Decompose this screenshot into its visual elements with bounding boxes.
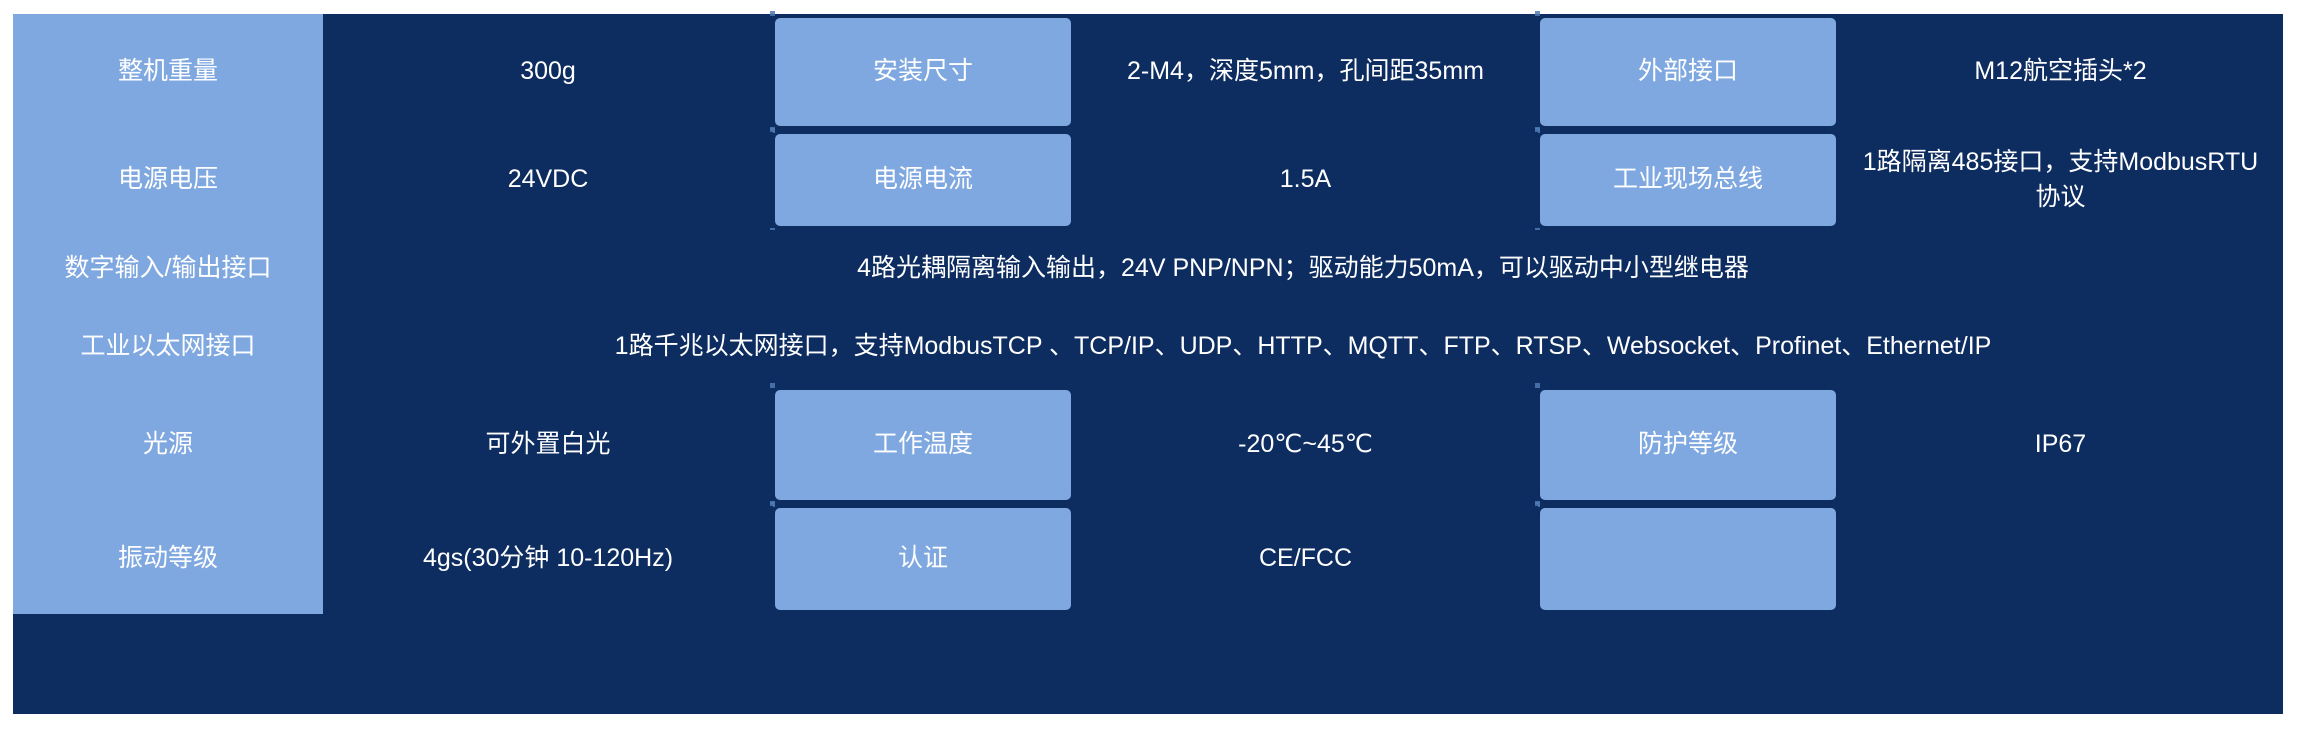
spec-value: 4gs(30分钟 10-120Hz) — [323, 504, 773, 614]
spec-chip-cell: 工业现场总线 — [1538, 130, 1838, 230]
resize-handle-icon — [1535, 383, 1540, 388]
spec-value: CE/FCC — [1073, 504, 1538, 614]
resize-handle-icon — [1535, 11, 1540, 16]
spec-value-empty — [1838, 504, 2283, 614]
spec-chip-cell: 工作温度 — [773, 386, 1073, 504]
spec-chip-label: 电源电流 — [775, 134, 1071, 226]
spec-chip-label: 外部接口 — [1540, 18, 1836, 126]
specification-table: 整机重量 300g 安装尺寸 2-M4，深度5mm，孔间距35mm 外部接口 M… — [13, 14, 2283, 714]
resize-handle-icon — [770, 11, 775, 16]
spec-chip-cell: 外部接口 — [1538, 14, 1838, 130]
resize-handle-icon — [770, 127, 775, 132]
spec-value: M12航空插头*2 — [1838, 14, 2283, 130]
spec-chip-label-empty — [1540, 508, 1836, 610]
spec-label: 光源 — [13, 386, 323, 504]
resize-handle-icon — [770, 501, 775, 506]
spec-chip-cell — [1538, 504, 1838, 614]
spec-value: 24VDC — [323, 130, 773, 230]
spec-value: 可外置白光 — [323, 386, 773, 504]
spec-value: IP67 — [1838, 386, 2283, 504]
spec-value-wide: 4路光耦隔离输入输出，24V PNP/NPN；驱动能力50mA，可以驱动中小型继… — [323, 230, 2283, 308]
resize-handle-icon — [1535, 127, 1540, 132]
spec-chip-label: 防护等级 — [1540, 390, 1836, 500]
spec-chip-cell: 防护等级 — [1538, 386, 1838, 504]
resize-handle-icon — [770, 383, 775, 388]
spec-value: 1.5A — [1073, 130, 1538, 230]
spec-label: 振动等级 — [13, 504, 323, 614]
spec-label: 数字输入/输出接口 — [13, 230, 323, 308]
spec-value: 300g — [323, 14, 773, 130]
spec-chip-cell: 认证 — [773, 504, 1073, 614]
spec-chip-label: 认证 — [775, 508, 1071, 610]
spec-chip-cell: 安装尺寸 — [773, 14, 1073, 130]
spec-chip-cell: 电源电流 — [773, 130, 1073, 230]
spec-value: -20℃~45℃ — [1073, 386, 1538, 504]
spec-label: 工业以太网接口 — [13, 308, 323, 386]
spec-chip-label: 工业现场总线 — [1540, 134, 1836, 226]
spec-chip-label: 安装尺寸 — [775, 18, 1071, 126]
spec-chip-label: 工作温度 — [775, 390, 1071, 500]
spec-value-wide: 1路千兆以太网接口，支持ModbusTCP 、TCP/IP、UDP、HTTP、M… — [323, 308, 2283, 386]
spec-value: 2-M4，深度5mm，孔间距35mm — [1073, 14, 1538, 130]
resize-handle-icon — [1535, 501, 1540, 506]
spec-value: 1路隔离485接口，支持ModbusRTU协议 — [1838, 130, 2283, 230]
spec-label: 电源电压 — [13, 130, 323, 230]
spec-label: 整机重量 — [13, 14, 323, 130]
